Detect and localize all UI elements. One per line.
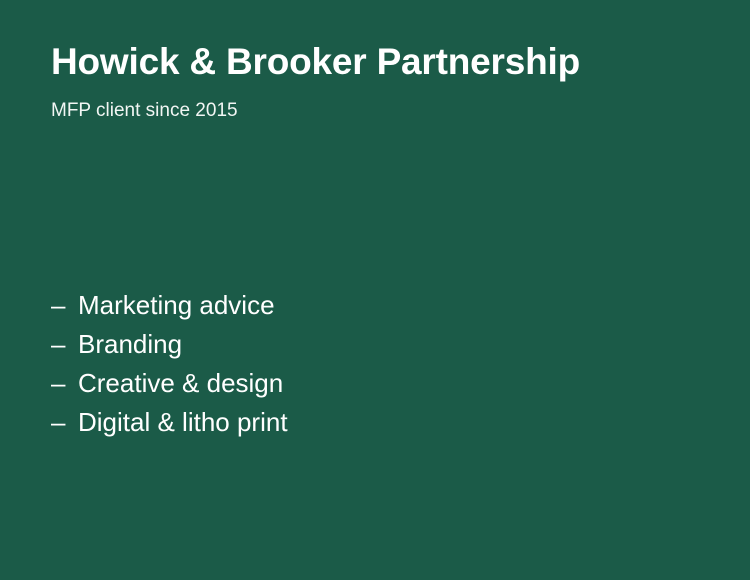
list-item: – Branding [51,325,288,364]
slide-subtitle: MFP client since 2015 [51,98,238,124]
list-item-label: Branding [78,325,182,364]
list-item: – Marketing advice [51,286,288,325]
services-list: – Marketing advice – Branding – Creative… [51,286,288,442]
list-item-label: Digital & litho print [78,403,288,442]
page-title: Howick & Brooker Partnership [51,40,580,84]
list-item: – Digital & litho print [51,403,288,442]
dash-icon: – [51,286,78,325]
slide-canvas: Howick & Brooker Partnership MFP client … [0,0,750,580]
list-item-label: Creative & design [78,364,283,403]
dash-icon: – [51,403,78,442]
list-item: – Creative & design [51,364,288,403]
dash-icon: – [51,364,78,403]
list-item-label: Marketing advice [78,286,275,325]
dash-icon: – [51,325,78,364]
